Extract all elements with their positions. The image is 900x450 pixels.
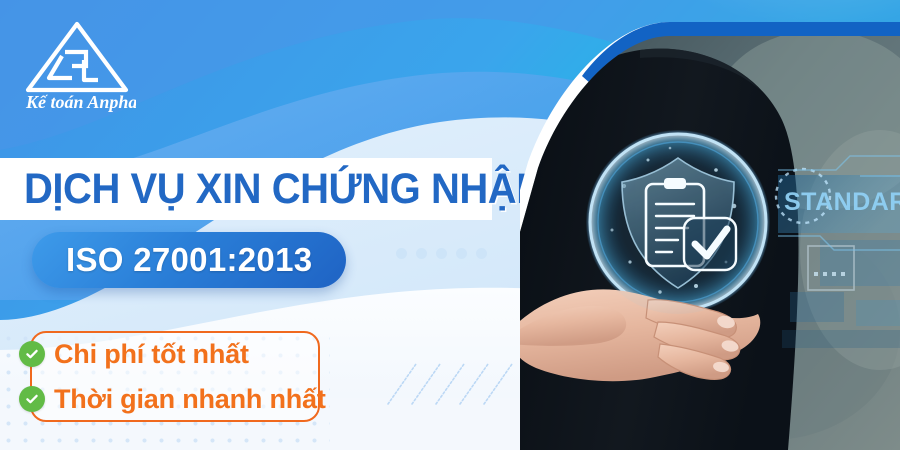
dot (436, 248, 447, 259)
benefits-list: Chi phí tốt nhất Thời gian nhanh nhất (19, 333, 326, 420)
page-title: DỊCH VỤ XIN CHỨNG NHẬN (24, 160, 461, 218)
dot (396, 248, 407, 259)
benefit-label: Chi phí tốt nhất (54, 339, 249, 370)
list-item: Thời gian nhanh nhất (19, 378, 326, 420)
dot (476, 248, 487, 259)
logo-script-text: Kế toán Anpha (25, 92, 136, 112)
anpha-logo[interactable]: Kế toán Anpha (18, 16, 136, 112)
dot (456, 248, 467, 259)
promo-banner: Kế toán Anpha DỊCH VỤ XIN CHỨNG NHẬN ISO… (0, 0, 900, 450)
benefit-label: Thời gian nhanh nhất (54, 384, 326, 415)
hud-standard-label: STANDARD (784, 188, 900, 216)
hero-photo: STANDARD (520, 0, 900, 450)
divider-rules (160, 150, 460, 154)
dots-decoration (396, 248, 487, 259)
list-item: Chi phí tốt nhất (19, 333, 326, 375)
check-circle-icon (19, 341, 45, 367)
dot (416, 248, 427, 259)
check-circle-icon (19, 386, 45, 412)
iso-standard-badge[interactable]: ISO 27001:2013 (32, 232, 346, 288)
